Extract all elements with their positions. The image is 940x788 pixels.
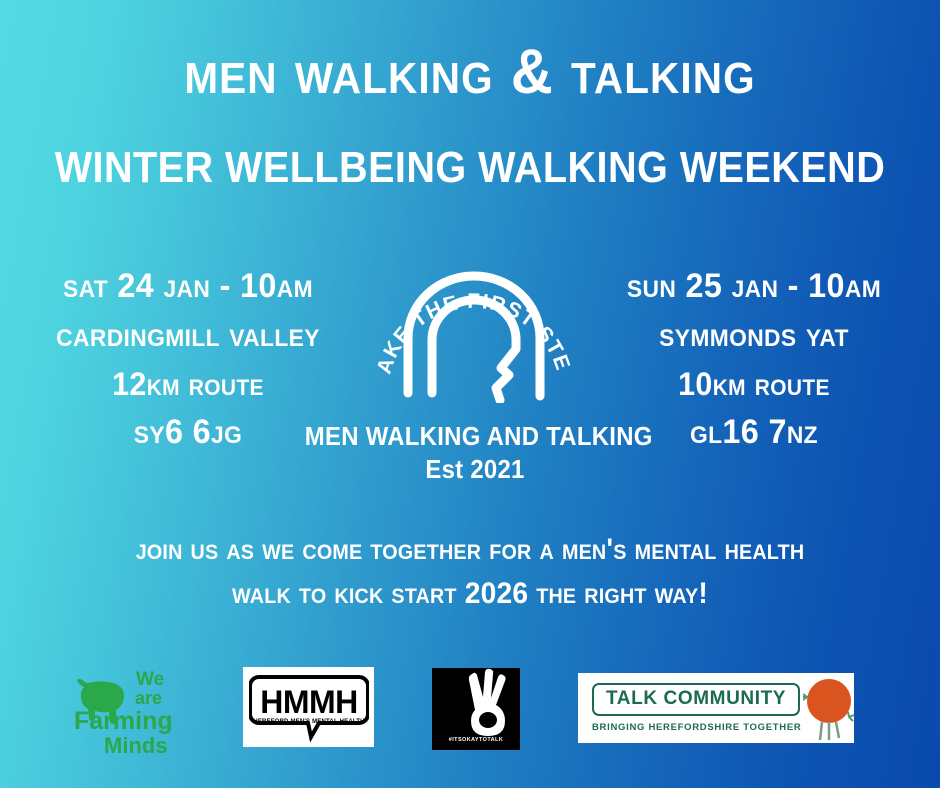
- body-line-2: walk to kick start 2026 the right way!: [75, 572, 865, 616]
- organisation-logo: TAKE THE FIRST STEP: [370, 218, 578, 403]
- event-poster: Men walking & talking Winter wellbeing w…: [0, 0, 940, 788]
- sponsor-its-okay-to-talk: #ITSOKAYTOTALK: [432, 668, 520, 750]
- ok-hand-gesture-icon: [469, 669, 506, 736]
- poster-body-copy: Join us as we come together for a men's …: [50, 528, 890, 616]
- event-location-right: Symmonds Yat: [583, 310, 925, 360]
- talk-community-tagline: BRINGING HEREFORDSHIRE TOGETHER: [592, 722, 801, 733]
- event-location-left: Cardingmill Valley: [17, 310, 359, 360]
- talk-community-title: TALK COMMUNITY: [592, 683, 800, 716]
- sponsor-talk-community: TALK COMMUNITY BRINGING HEREFORDSHIRE TO…: [578, 673, 854, 743]
- event-date-left: Sat 24 Jan - 10am: [17, 262, 359, 310]
- wafm-line-2: are: [135, 688, 162, 708]
- logo-caption-name: Men walking and talking: [305, 420, 645, 452]
- logo-caption-est: Est 2021: [305, 452, 645, 486]
- poster-title: Men walking & talking: [38, 36, 903, 108]
- body-line-1: Join us as we come together for a men's …: [75, 528, 865, 572]
- logo-caption: Men walking and talking Est 2021: [290, 420, 660, 486]
- event-date-right: Sun 25 Jan - 10am: [583, 262, 925, 310]
- okay-hashtag: #ITSOKAYTOTALK: [449, 737, 503, 743]
- wafm-line-1: We: [136, 669, 164, 690]
- poster-subtitle: Winter wellbeing walking weekend: [47, 142, 893, 194]
- wafm-line-4: Minds: [104, 733, 168, 758]
- sponsor-we-are-farming-minds: We are Farming Minds: [72, 663, 202, 759]
- hmmh-acronym: HMMH: [260, 684, 358, 720]
- sponsor-hmmh: HMMH HEREFORD MEN'S MENTAL HEALTH: [243, 667, 374, 747]
- hmmh-tagline: HEREFORD MEN'S MENTAL HEALTH: [253, 719, 364, 725]
- orange-round-figure-icon: [803, 677, 855, 743]
- wafm-line-3: Farming: [74, 707, 173, 735]
- sponsor-logo-strip: We are Farming Minds HMMH HEREFORD MEN'S…: [0, 655, 940, 765]
- event-distance-right: 10km route: [583, 360, 925, 408]
- event-distance-left: 12km route: [17, 360, 359, 408]
